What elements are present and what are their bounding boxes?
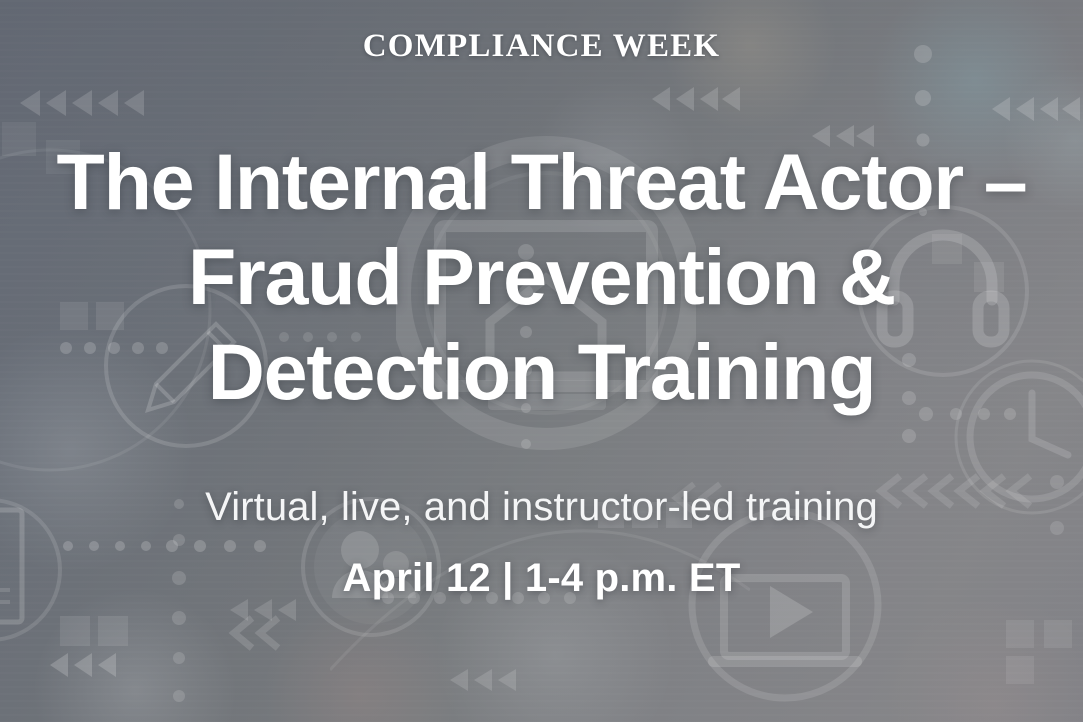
event-format-subtitle: Virtual, live, and instructor-led traini… [205, 485, 878, 530]
promo-banner: COMPLIANCE WEEK The Internal Threat Acto… [0, 0, 1083, 722]
compliance-week-logo: COMPLIANCE WEEK [363, 28, 721, 65]
event-datetime: April 12 | 1-4 p.m. ET [343, 556, 741, 601]
page-title: The Internal Threat Actor – Fraud Preven… [22, 135, 1062, 419]
banner-content: COMPLIANCE WEEK The Internal Threat Acto… [0, 0, 1083, 722]
